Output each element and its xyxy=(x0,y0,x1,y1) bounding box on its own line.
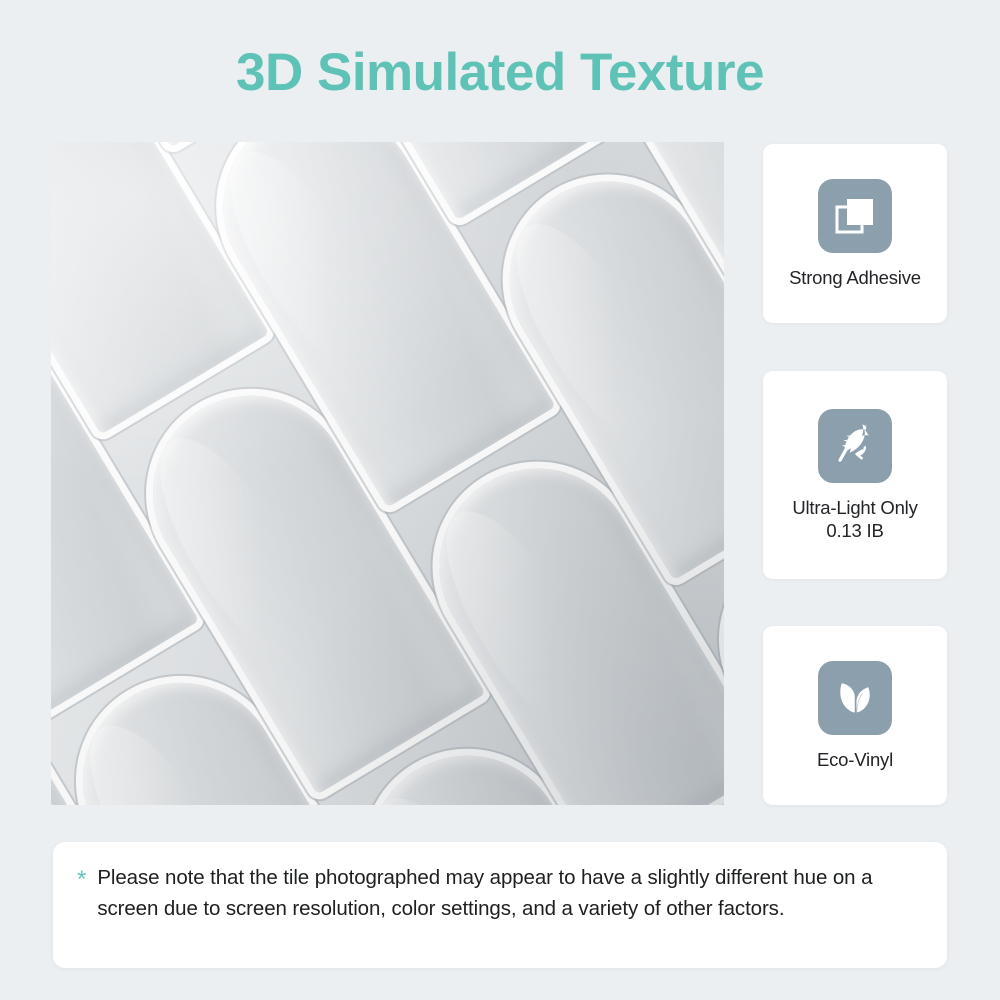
feature-label-ultra-light-line1: Ultra-Light Only xyxy=(792,497,917,518)
asterisk-icon: * xyxy=(77,862,86,968)
feature-card-list: Strong Adhesive Ultra-Light Only 0.13 IB xyxy=(763,144,947,805)
feature-label-ultra-light-weight: 0.13 IB xyxy=(826,520,883,541)
page-title: 3D Simulated Texture xyxy=(0,44,1000,102)
leaves-icon xyxy=(818,661,892,735)
layers-icon xyxy=(818,179,892,253)
disclaimer-text: Please note that the tile photographed m… xyxy=(97,862,913,968)
feather-icon xyxy=(818,409,892,483)
feature-label-eco-vinyl: Eco-Vinyl xyxy=(817,748,893,771)
feature-card-strong-adhesive[interactable]: Strong Adhesive xyxy=(763,144,947,323)
feature-label-strong-adhesive: Strong Adhesive xyxy=(789,266,921,289)
disclaimer-note: * Please note that the tile photographed… xyxy=(53,842,947,968)
tile-pattern xyxy=(51,142,724,805)
feature-card-ultra-light[interactable]: Ultra-Light Only 0.13 IB xyxy=(763,371,947,579)
feature-label-ultra-light: Ultra-Light Only 0.13 IB xyxy=(792,496,917,542)
feature-card-eco-vinyl[interactable]: Eco-Vinyl xyxy=(763,626,947,805)
tile-product-photo xyxy=(51,142,724,805)
